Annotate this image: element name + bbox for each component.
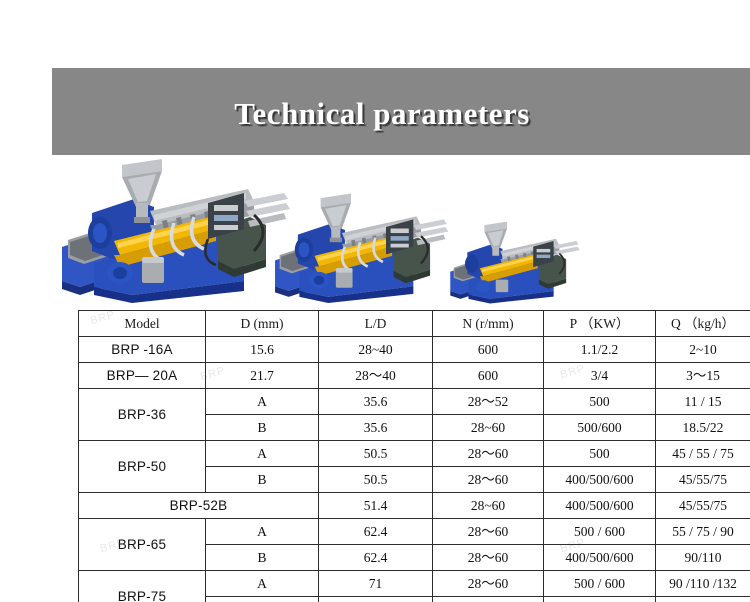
cell-model-group: BRP-75 — [79, 571, 206, 602]
product-image-band — [0, 155, 750, 310]
cell-output: 2~10 — [656, 337, 750, 363]
cell-ld-ratio: 28~60 — [433, 493, 544, 519]
cell-power: 55 / 75 / 90 — [656, 519, 750, 545]
cell-output: 3～15 — [656, 363, 750, 389]
table-row: BRP-50 A 50.5 28～60 500 45 / 55 / 75 80～… — [79, 441, 750, 467]
cell-variant: B — [206, 467, 319, 493]
table-row: BRP-65 A 62.4 28～60 500 / 600 55 / 75 / … — [79, 519, 750, 545]
cell-model-group: BRP-50 — [79, 441, 206, 493]
technical-parameters-table-wrap: Model D (mm) L/D N (r/mm) P （KW） Q （kg/h… — [78, 310, 750, 602]
page-title: Technical parameters — [52, 96, 712, 132]
cell-model: BRP— 20A — [79, 363, 206, 389]
cell-diameter: 50.5 — [319, 441, 433, 467]
cell-power: 110/132/160 — [656, 597, 750, 602]
table-row: BRP -16A 15.6 28~40 600 1.1/2.2 2~10 — [79, 337, 750, 363]
cell-model-group: BRP-65 — [79, 519, 206, 571]
cell-variant: B — [206, 545, 319, 571]
extruder-image-small — [448, 219, 590, 310]
technical-parameters-table: Model D (mm) L/D N (r/mm) P （KW） Q （kg/h… — [78, 310, 750, 602]
extruder-illustration-2 — [272, 190, 462, 305]
cell-variant: A — [206, 389, 319, 415]
cell-diameter: 51.4 — [319, 493, 433, 519]
cell-ld-ratio: 28～40 — [319, 363, 433, 389]
extruder-image-large — [58, 155, 308, 310]
cell-ld-ratio: 28～60 — [433, 597, 544, 602]
col-header-output: Q （kg/h） — [656, 311, 750, 337]
cell-model: BRP -16A — [79, 337, 206, 363]
cell-ld-ratio: 28～60 — [433, 441, 544, 467]
cell-power: 18.5/22 — [656, 415, 750, 441]
cell-diameter: 62.4 — [319, 545, 433, 571]
cell-diameter: 21.7 — [206, 363, 319, 389]
cell-power: 11 / 15 — [656, 389, 750, 415]
cell-ld-ratio: 28～60 — [433, 467, 544, 493]
cell-power: 45/55/75 — [656, 493, 750, 519]
cell-screw-speed: 400/500/600 — [544, 545, 656, 571]
cell-power: 45/55/75 — [656, 467, 750, 493]
col-header-diameter: D (mm) — [206, 311, 319, 337]
cell-screw-speed: 500 — [544, 441, 656, 467]
cell-model: BRP-52B — [79, 493, 319, 519]
cell-power: 1.1/2.2 — [544, 337, 656, 363]
cell-model-group: BRP-36 — [79, 389, 206, 441]
cell-diameter: 50.5 — [319, 467, 433, 493]
cell-screw-speed: 500 — [544, 389, 656, 415]
extruder-image-medium — [272, 190, 462, 310]
table-header-row: Model D (mm) L/D N (r/mm) P （KW） Q （kg/h… — [79, 311, 750, 337]
cell-diameter: 71 — [319, 597, 433, 602]
cell-ld-ratio: 28～60 — [433, 519, 544, 545]
cell-variant: B — [206, 415, 319, 441]
cell-variant: B — [206, 597, 319, 602]
table-row: BRP— 20A 21.7 28～40 600 3/4 3～15 — [79, 363, 750, 389]
extruder-illustration-1 — [58, 155, 308, 305]
col-header-ld-ratio: L/D — [319, 311, 433, 337]
cell-ld-ratio: 28～60 — [433, 545, 544, 571]
cell-screw-speed: 600 — [433, 363, 544, 389]
cell-screw-speed: 600 — [433, 337, 544, 363]
table-row: BRP-52B 51.4 28~60 400/500/600 45/55/75 … — [79, 493, 750, 519]
col-header-power: P （KW） — [544, 311, 656, 337]
cell-power: 90/110 — [656, 545, 750, 571]
cell-screw-speed: 400/500/600 — [544, 493, 656, 519]
cell-diameter: 62.4 — [319, 519, 433, 545]
technical-parameters-banner: Technical parameters — [52, 68, 750, 155]
col-header-screw-speed: N (r/mm) — [433, 311, 544, 337]
cell-ld-ratio: 28～52 — [433, 389, 544, 415]
cell-screw-speed: 500 / 600 — [544, 571, 656, 597]
table-row: BRP-36 A 35.6 28～52 500 11 / 15 20～60 — [79, 389, 750, 415]
cell-diameter: 71 — [319, 571, 433, 597]
extruder-illustration-3 — [448, 219, 590, 305]
cell-screw-speed: 500 / 600 — [544, 519, 656, 545]
cell-ld-ratio: 28~60 — [433, 415, 544, 441]
cell-ld-ratio: 28~40 — [319, 337, 433, 363]
cell-screw-speed: 500/600 — [544, 415, 656, 441]
cell-variant: A — [206, 571, 319, 597]
cell-ld-ratio: 28～60 — [433, 571, 544, 597]
table-row: BRP-75 A 71 28～60 500 / 600 90 /110 /132… — [79, 571, 750, 597]
cell-diameter: 35.6 — [319, 389, 433, 415]
cell-diameter: 15.6 — [206, 337, 319, 363]
col-header-model: Model — [79, 311, 206, 337]
cell-power: 90 /110 /132 — [656, 571, 750, 597]
cell-diameter: 35.6 — [319, 415, 433, 441]
cell-variant: A — [206, 441, 319, 467]
cell-screw-speed: 400/500/600 — [544, 467, 656, 493]
cell-variant: A — [206, 519, 319, 545]
cell-power: 3/4 — [544, 363, 656, 389]
cell-screw-speed: 400/500/600 — [544, 597, 656, 602]
cell-power: 45 / 55 / 75 — [656, 441, 750, 467]
